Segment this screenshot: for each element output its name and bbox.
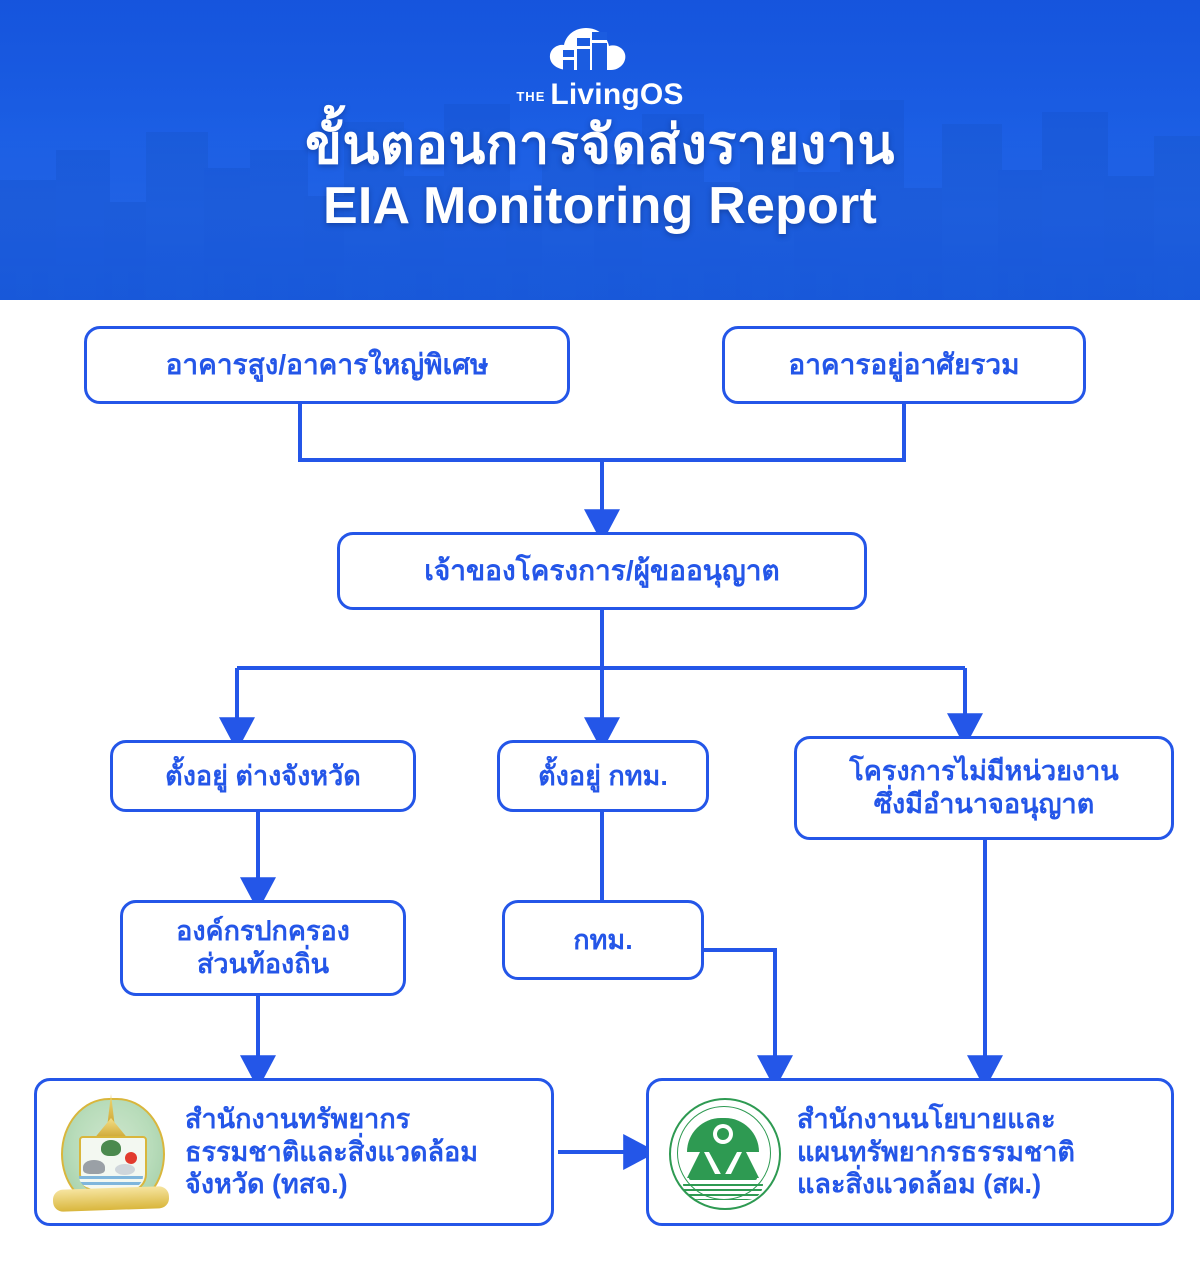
node-located-bangkok[interactable]: ตั้งอยู่ กทม. <box>497 740 709 812</box>
flowchart: อาคารสูง/อาคารใหญ่พิเศษ อาคารอยู่อาศัยรว… <box>0 300 1200 1282</box>
node-label-line3: และสิ่งแวดล้อม (สผ.) <box>797 1168 1075 1201</box>
page-title-english: EIA Monitoring Report <box>0 177 1200 237</box>
edge-top-merge <box>300 404 904 460</box>
node-onep-office[interactable]: สำนักงานนโยบายและ แผนทรัพยากรธรรมชาติ แล… <box>646 1078 1174 1226</box>
node-label-line1: โครงการไม่มีหน่วยงาน <box>849 755 1118 788</box>
infographic-page: THE Living OS ขั้นตอนการจัดส่งรายงาน EIA… <box>0 0 1200 1282</box>
node-label: ตั้งอยู่ กทม. <box>538 760 668 793</box>
node-residential-building[interactable]: อาคารอยู่อาศัยรวม <box>722 326 1086 404</box>
city-cloud-logo-icon <box>525 24 675 78</box>
node-label-line2: แผนทรัพยากรธรรมชาติ <box>797 1136 1075 1169</box>
node-label-line1: สำนักงานทรัพยากร <box>185 1103 478 1136</box>
node-located-province[interactable]: ตั้งอยู่ ต่างจังหวัด <box>110 740 416 812</box>
header-banner: THE Living OS ขั้นตอนการจัดส่งรายงาน EIA… <box>0 0 1200 300</box>
node-label-line2: ธรรมชาติและสิ่งแวดล้อม <box>185 1136 478 1169</box>
node-label-line2: ส่วนท้องถิ่น <box>176 948 350 981</box>
logo-os-text: OS <box>640 80 684 110</box>
node-project-owner[interactable]: เจ้าของโครงการ/ผู้ขออนุญาต <box>337 532 867 610</box>
node-highrise-building[interactable]: อาคารสูง/อาคารใหญ่พิเศษ <box>84 326 570 404</box>
node-label-line2: ซึ่งมีอำนาจอนุญาต <box>849 788 1118 821</box>
edge-bma-onep <box>704 950 775 1068</box>
brand-logo[interactable]: THE Living OS <box>0 24 1200 110</box>
node-label-line1: สำนักงานนโยบายและ <box>797 1103 1075 1136</box>
logo-the-text: THE <box>516 89 545 104</box>
node-bangkok-metropolitan-admin[interactable]: กทม. <box>502 900 704 980</box>
node-label: ตั้งอยู่ ต่างจังหวัด <box>165 760 361 793</box>
node-label: เจ้าของโครงการ/ผู้ขออนุญาต <box>424 554 779 588</box>
node-label-line3: จังหวัด (ทสจ.) <box>185 1168 478 1201</box>
node-label: อาคารสูง/อาคารใหญ่พิเศษ <box>166 348 489 382</box>
node-no-permitting-authority[interactable]: โครงการไม่มีหน่วยงาน ซึ่งมีอำนาจอนุญาต <box>794 736 1174 840</box>
mnre-emblem-icon <box>51 1092 171 1212</box>
node-label-line1: องค์กรปกครอง <box>176 915 350 948</box>
node-label: อาคารอยู่อาศัยรวม <box>788 348 1019 382</box>
node-local-administrative-org[interactable]: องค์กรปกครอง ส่วนท้องถิ่น <box>120 900 406 996</box>
node-label: กทม. <box>573 924 632 957</box>
onep-emblem-icon <box>663 1092 783 1212</box>
logo-living-text: Living <box>550 80 640 110</box>
page-title: ขั้นตอนการจัดส่งรายงาน EIA Monitoring Re… <box>0 116 1200 237</box>
node-provincial-natural-resources-office[interactable]: สำนักงานทรัพยากร ธรรมชาติและสิ่งแวดล้อม … <box>34 1078 554 1226</box>
page-title-thai: ขั้นตอนการจัดส่งรายงาน <box>0 116 1200 175</box>
